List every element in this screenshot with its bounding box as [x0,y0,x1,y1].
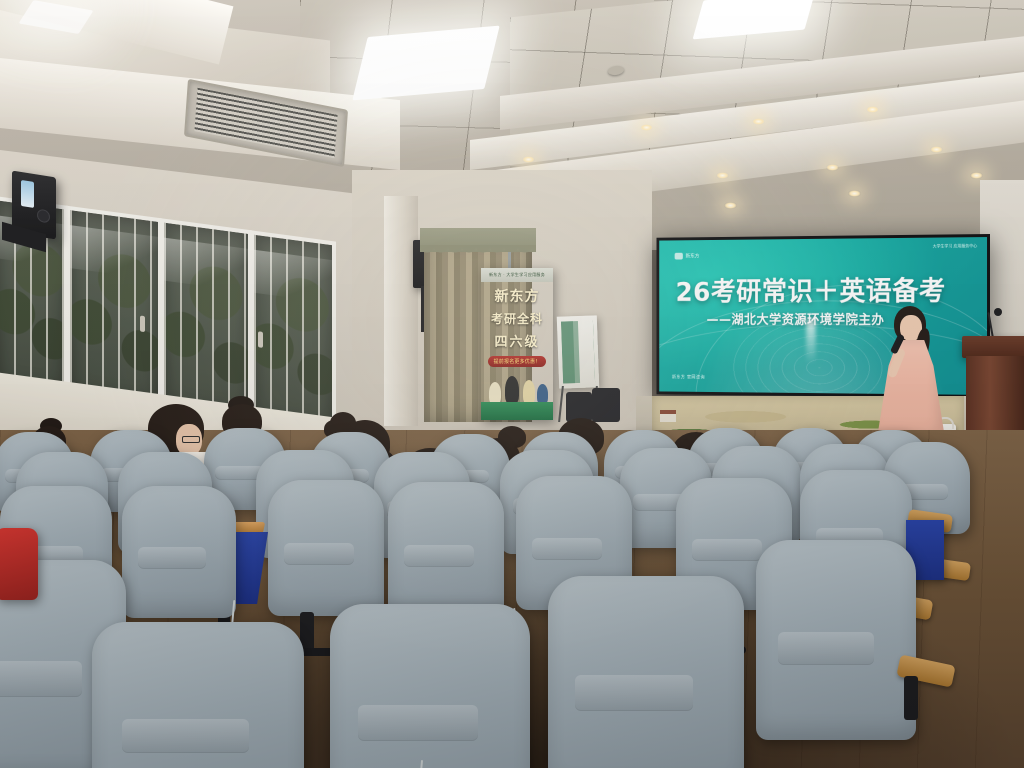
downlight [522,156,535,163]
window-handle[interactable] [140,315,145,332]
window-pane [160,218,252,420]
banner-mascot [505,376,519,404]
banner-line-3: 四六级 [481,331,553,350]
downlight [866,106,879,113]
auditorium-seat[interactable] [756,540,916,740]
microphone-icon [994,308,1002,316]
banner-mascot [523,380,535,404]
downlight [826,164,839,171]
downlight [930,146,943,153]
downlight [752,118,765,125]
auditorium-seat[interactable] [388,482,504,618]
presenter-dress [878,340,944,432]
auditorium-seat[interactable] [268,480,384,616]
lecture-hall-photo: 新东方 · 大学生学习应用服务 新东方 考研全科 四六级 提前报名更多优惠！ 新… [0,0,1024,768]
roll-up-banner: 新东方 · 大学生学习应用服务 新东方 考研全科 四六级 提前报名更多优惠！ [481,268,553,420]
stacking-chair [592,388,620,422]
auditorium-seat[interactable] [330,604,530,768]
screen-subtitle: ——湖北大学资源环境学院主办 [707,309,885,328]
auditorium-seat[interactable] [122,486,236,618]
downlight [724,202,737,209]
screen-title: 26考研常识＋英语备考 [676,269,960,308]
brand-logo-text: 新东方 [686,253,700,260]
window-handle[interactable] [258,331,263,348]
speaker-cone [37,208,50,223]
audience-head [498,426,526,448]
red-bag [0,528,38,600]
glasses-icon [182,436,200,443]
auditorium-seat[interactable] [548,576,744,768]
downlight [716,172,729,179]
downlight [848,190,861,197]
screen-footer: 新东方 官网咨询 [672,374,705,380]
wall-pillar [384,196,418,426]
downlight [640,124,653,131]
banner-mascot [537,384,548,404]
flipchart-easel [557,315,599,388]
window-pane [66,206,162,409]
lectern-top [962,336,1024,358]
flipchart-writing [561,320,595,383]
banner-line-1: 新东方 [481,286,553,306]
banner-mascots [481,362,553,404]
banner-ground [481,402,553,420]
banner-mascot [489,382,501,404]
seat-leg [904,676,918,720]
downlight [970,172,983,179]
banner-line-2: 考研全科 [481,310,553,327]
screen-secondary-logo: 大学生学习 应用服务中心 [933,243,978,248]
presenter [872,306,950,436]
speaker-label [21,180,34,208]
mural-house [660,410,676,422]
screen-brand-logo: 新东方 [672,252,702,261]
window-pane [250,230,336,431]
auditorium-seat[interactable] [92,622,304,768]
banner-header: 新东方 · 大学生学习应用服务 [481,268,553,282]
ceiling-led-panel-light [352,26,499,101]
curtain-valance [420,228,536,252]
brand-mark-icon [675,253,683,260]
